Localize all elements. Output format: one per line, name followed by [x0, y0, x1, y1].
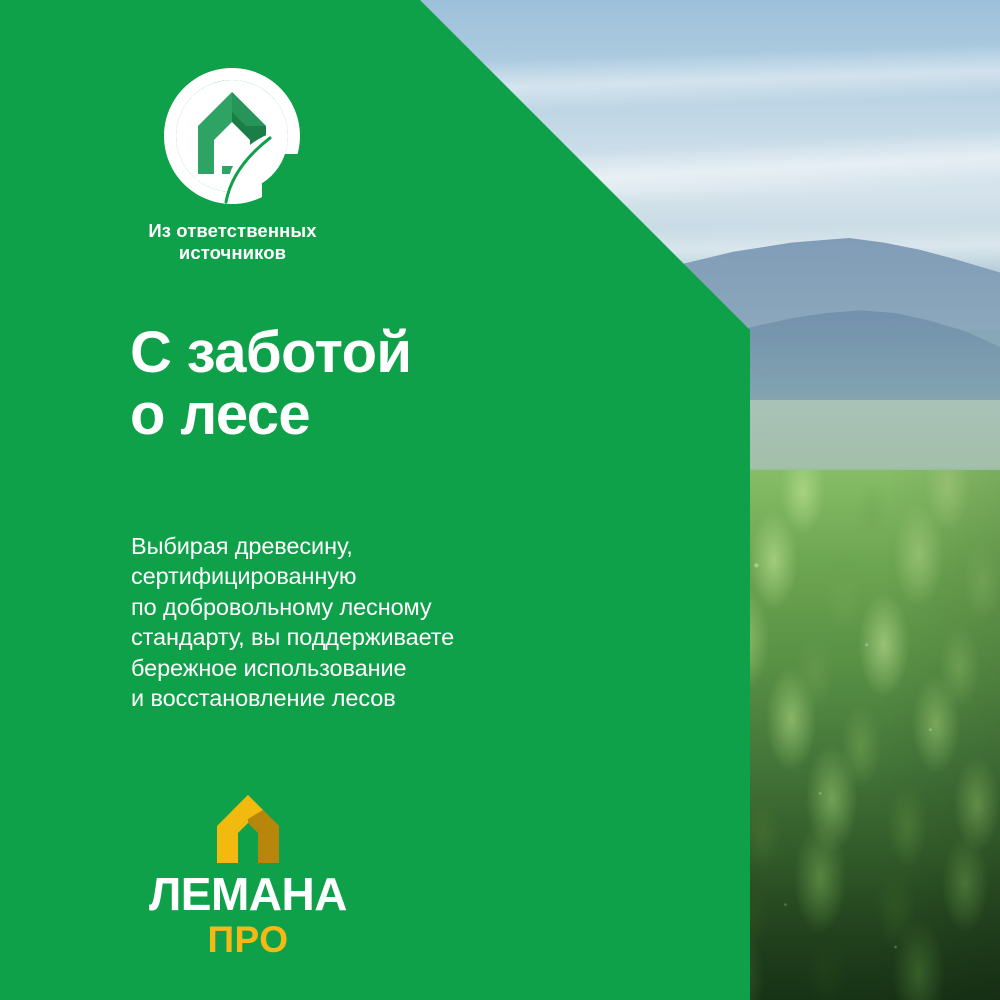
lemana-house-icon — [211, 793, 285, 865]
brand-name: ЛЕМАНА — [133, 871, 363, 917]
poster-canvas: Из ответственных источников С заботой о … — [0, 0, 1000, 1000]
brand-suffix: ПРО — [133, 921, 363, 958]
certification-caption: Из ответственных источников — [130, 220, 335, 264]
body-paragraph: Выбирая древесину, сертифицированную по … — [131, 531, 454, 714]
certification-emblem-block: Из ответственных источников — [130, 62, 430, 264]
page-title: С заботой о лесе — [130, 322, 411, 446]
poster-content: Из ответственных источников С заботой о … — [0, 0, 750, 1000]
house-leaf-circle-emblem — [158, 62, 306, 210]
brand-lockup: ЛЕМАНА ПРО — [133, 793, 363, 958]
